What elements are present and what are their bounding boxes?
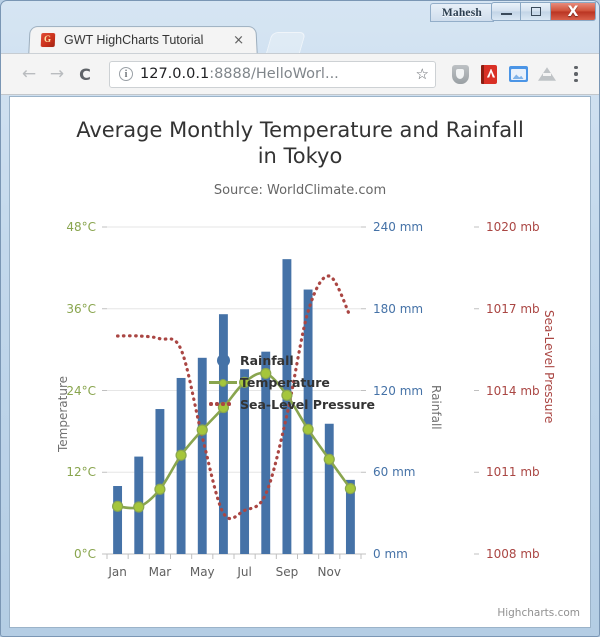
ytick-rainfall-3: 180 mm — [373, 302, 423, 316]
axis-title-sea-level-pressure: Sea-Level Pressure — [542, 310, 556, 423]
xtick-Nov: Nov — [318, 565, 341, 579]
legend-marker-rainfall — [206, 354, 240, 367]
extension-photo-button[interactable] — [505, 61, 531, 87]
highcharts-chart: Average Monthly Temperature and Rainfall… — [10, 97, 590, 627]
legend-item-temperature[interactable]: Temperature — [206, 371, 375, 393]
minimize-icon — [501, 13, 512, 15]
browser-menu-button[interactable] — [563, 61, 589, 87]
url-path: :8888/HelloWorl... — [209, 66, 339, 82]
extension-drive-button[interactable] — [534, 61, 560, 87]
forward-button[interactable]: → — [43, 60, 71, 88]
xtick-Mar: Mar — [149, 565, 172, 579]
chart-legend: Rainfall Temperature Sea-Level Pressure — [206, 349, 375, 415]
legend-label-sea-level-pressure: Sea-Level Pressure — [240, 397, 375, 412]
reload-button[interactable]: C — [71, 60, 99, 88]
title-bar: Mahesh X — [1, 1, 599, 23]
bookmark-star-icon[interactable]: ☆ — [412, 65, 429, 83]
site-info-icon[interactable]: i — [119, 67, 133, 81]
maximize-icon — [531, 7, 541, 16]
ytick-pressure-0: 1008 mb — [486, 547, 540, 561]
close-button[interactable]: X — [551, 2, 596, 21]
legend-item-sea-level-pressure[interactable]: Sea-Level Pressure — [206, 393, 375, 415]
xtick-Jan: Jan — [108, 565, 127, 579]
address-bar[interactable]: i 127.0.0.1:8888/HelloWorl... ☆ — [109, 61, 436, 88]
browser-window: Mahesh X G GWT HighCharts Tutorial × — [0, 0, 600, 637]
photo-icon — [509, 66, 528, 82]
extension-shield-button[interactable] — [447, 61, 473, 87]
maximize-button[interactable] — [521, 2, 551, 21]
close-icon: X — [568, 4, 579, 20]
xtick-Sep: Sep — [276, 565, 299, 579]
ytick-temperature-4: 48°C — [66, 220, 96, 234]
legend-marker-temperature — [206, 377, 240, 388]
ytick-temperature-3: 36°C — [66, 302, 96, 316]
ytick-pressure-2: 1014 mb — [486, 384, 540, 398]
overflow-menu-icon — [574, 66, 578, 83]
chart-credit: Highcharts.com — [497, 607, 580, 619]
xtick-Jul: Jul — [237, 565, 251, 579]
browser-toolbar: ← → C i 127.0.0.1:8888/HelloWorl... ☆ — [1, 53, 599, 95]
legend-marker-sea-level-pressure — [206, 402, 240, 406]
legend-label-rainfall: Rainfall — [240, 353, 294, 368]
ytick-rainfall-0: 0 mm — [373, 547, 408, 561]
page-content: Average Monthly Temperature and Rainfall… — [9, 96, 591, 628]
window-controls: X — [491, 2, 596, 21]
tab-title: GWT HighCharts Tutorial — [64, 33, 230, 47]
legend-label-temperature: Temperature — [240, 375, 330, 390]
tab-close-icon[interactable]: × — [229, 33, 249, 48]
axis-title-rainfall: Rainfall — [429, 385, 443, 430]
ytick-pressure-1: 1011 mb — [486, 465, 540, 479]
ytick-rainfall-2: 120 mm — [373, 384, 423, 398]
back-arrow-icon: ← — [22, 64, 36, 84]
ytick-rainfall-1: 60 mm — [373, 465, 415, 479]
drive-icon — [538, 66, 556, 82]
user-account-button[interactable]: Mahesh — [430, 3, 494, 22]
ytick-rainfall-4: 240 mm — [373, 220, 423, 234]
tab-strip: G GWT HighCharts Tutorial × — [1, 23, 599, 53]
ytick-temperature-0: 0°C — [74, 547, 96, 561]
xtick-May: May — [190, 565, 215, 579]
axis-title-temperature: Temperature — [56, 376, 70, 452]
book-icon — [481, 65, 497, 84]
new-tab-button[interactable] — [266, 32, 306, 53]
ytick-pressure-3: 1017 mb — [486, 302, 540, 316]
user-account-label: Mahesh — [442, 7, 482, 19]
url-text: 127.0.0.1:8888/HelloWorl... — [140, 66, 412, 82]
ytick-temperature-2: 24°C — [66, 384, 96, 398]
forward-arrow-icon: → — [50, 64, 64, 84]
shield-icon — [452, 65, 469, 84]
extension-book-button[interactable] — [476, 61, 502, 87]
legend-item-rainfall[interactable]: Rainfall — [206, 349, 375, 371]
tab-gwt-highcharts-tutorial[interactable]: G GWT HighCharts Tutorial × — [28, 26, 257, 53]
ytick-pressure-4: 1020 mb — [486, 220, 540, 234]
minimize-button[interactable] — [491, 2, 521, 21]
url-host: 127.0.0.1 — [140, 66, 209, 82]
back-button[interactable]: ← — [15, 60, 43, 88]
favicon-icon: G — [40, 32, 57, 48]
ytick-temperature-1: 12°C — [66, 465, 96, 479]
reload-icon: C — [79, 65, 91, 84]
